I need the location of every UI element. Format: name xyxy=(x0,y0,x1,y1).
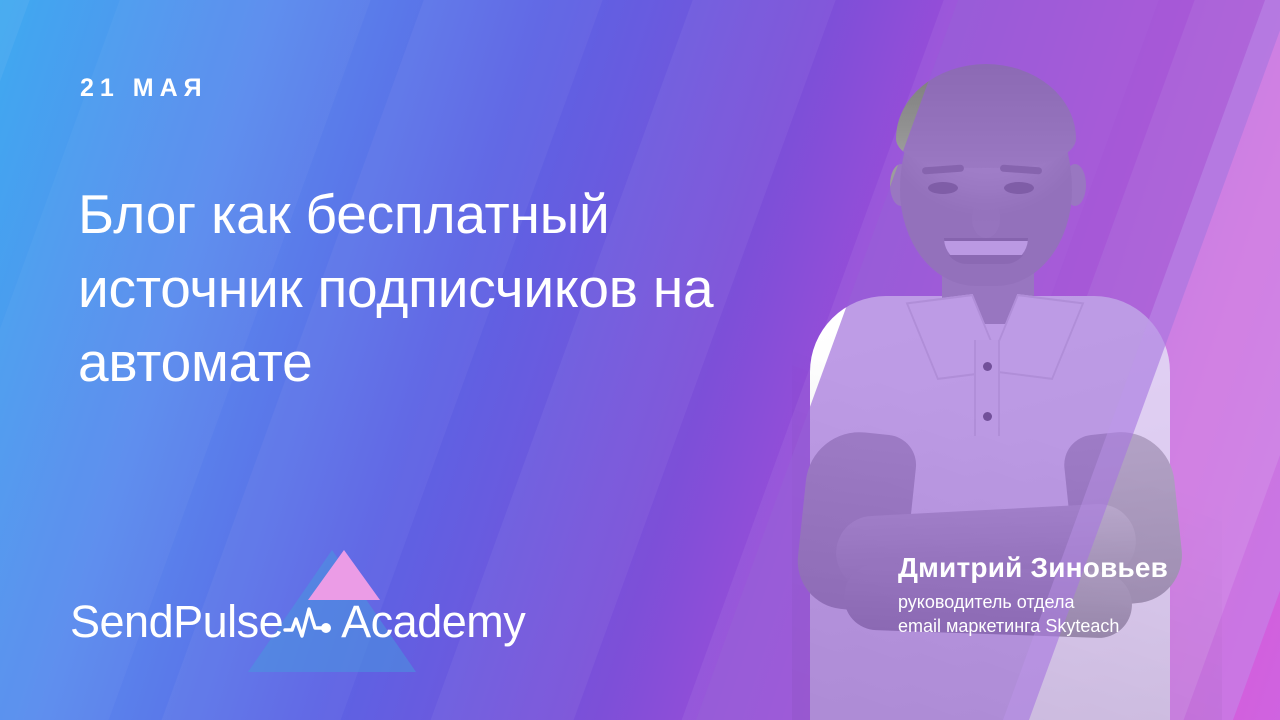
speaker-role: руководитель отдела email маркетинга Sky… xyxy=(898,591,1238,639)
pulse-icon xyxy=(283,603,339,641)
sendpulse-academy-logo[interactable]: SendPulse Academy xyxy=(70,538,490,658)
page-title: Блог как бесплатный источник подписчиков… xyxy=(78,177,738,400)
speaker-role-line-2: email маркетинга Skyteach xyxy=(898,615,1238,639)
webinar-banner: 21 МАЯ Блог как бесплатный источник подп… xyxy=(0,0,1280,720)
logo-academy-text: Academy xyxy=(341,596,525,648)
speaker-name: Дмитрий Зиновьев xyxy=(898,552,1238,584)
logo-wordmark: SendPulse Academy xyxy=(70,596,525,648)
speaker-role-line-1: руководитель отдела xyxy=(898,591,1238,615)
speaker-caption: Дмитрий Зиновьев руководитель отдела ema… xyxy=(898,552,1238,639)
event-date: 21 МАЯ xyxy=(80,74,208,103)
logo-sendpulse-text: SendPulse xyxy=(70,596,283,648)
triangle-pink-icon xyxy=(308,550,380,600)
